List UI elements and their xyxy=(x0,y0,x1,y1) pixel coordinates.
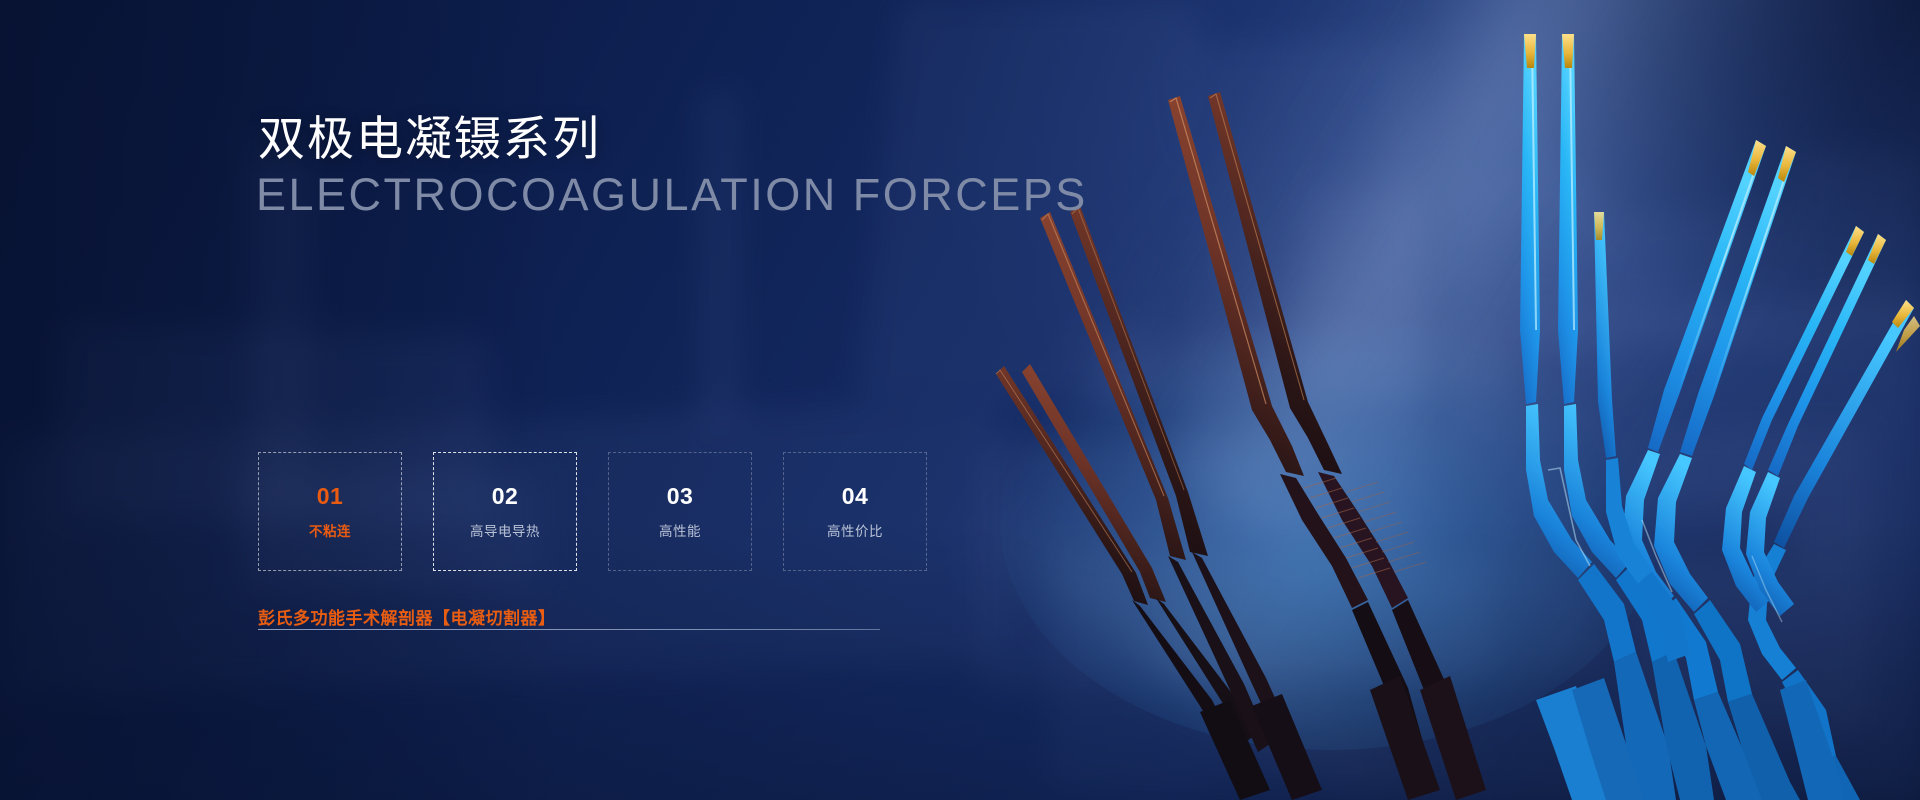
feature-number: 01 xyxy=(317,485,344,508)
product-subtitle: 彭氏多功能手术解剖器【电凝切割器】 xyxy=(258,608,556,630)
feature-label: 不粘连 xyxy=(309,525,351,539)
feature-label: 高导电导热 xyxy=(470,525,540,539)
forceps-illustration xyxy=(900,0,1920,800)
feature-list: 01 不粘连 02 高导电导热 03 高性能 04 高性价比 xyxy=(258,452,927,571)
page-subtitle-english: ELECTROCOAGULATION FORCEPS xyxy=(256,172,1088,217)
feature-number: 03 xyxy=(667,485,694,508)
banner-text-block: 双极电凝镊系列 ELECTROCOAGULATION FORCEPS 彭氏多功能… xyxy=(258,0,1018,800)
feature-item-02[interactable]: 02 高导电导热 xyxy=(433,452,577,571)
feature-item-03[interactable]: 03 高性能 xyxy=(608,452,752,571)
feature-item-01[interactable]: 01 不粘连 xyxy=(258,452,402,571)
page-title: 双极电凝镊系列 xyxy=(258,115,601,162)
feature-number: 04 xyxy=(842,485,869,508)
feature-number: 02 xyxy=(492,485,519,508)
product-banner: 双极电凝镊系列 ELECTROCOAGULATION FORCEPS 彭氏多功能… xyxy=(0,0,1920,800)
feature-label: 高性能 xyxy=(659,525,701,539)
feature-label: 高性价比 xyxy=(827,525,883,539)
feature-item-04[interactable]: 04 高性价比 xyxy=(783,452,927,571)
